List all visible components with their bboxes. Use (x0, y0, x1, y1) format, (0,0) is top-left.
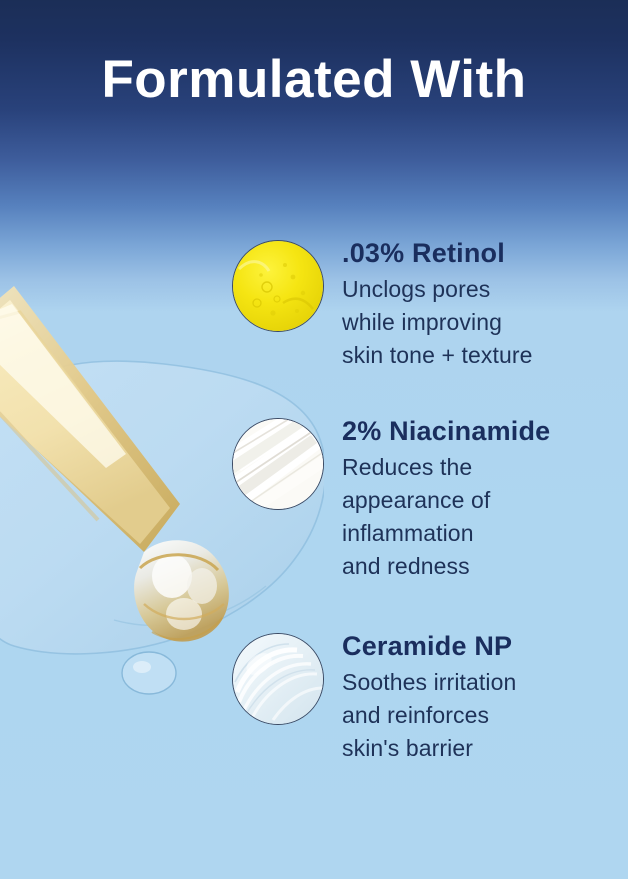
ingredient-name: .03% Retinol (342, 236, 622, 270)
description-line: skin's barrier (342, 732, 622, 765)
ingredient-text-retinol: .03% Retinol Unclogs pores while improvi… (342, 236, 622, 372)
ingredient-description: Soothes irritation and reinforces skin's… (342, 666, 622, 765)
description-line: while improving (342, 306, 622, 339)
niacinamide-cream-swatch (232, 418, 324, 510)
description-line: Unclogs pores (342, 273, 622, 306)
ingredient-name: Ceramide NP (342, 629, 622, 663)
retinol-gel-swatch (232, 240, 324, 332)
ingredient-name: 2% Niacinamide (342, 414, 622, 448)
description-line: and redness (342, 550, 622, 583)
description-line: skin tone + texture (342, 339, 622, 372)
description-line: inflammation (342, 517, 622, 550)
ingredient-description: Reduces the appearance of inflammation a… (342, 451, 622, 583)
description-line: and reinforces (342, 699, 622, 732)
description-line: Reduces the (342, 451, 622, 484)
ingredient-description: Unclogs pores while improving skin tone … (342, 273, 622, 372)
ingredient-text-niacinamide: 2% Niacinamide Reduces the appearance of… (342, 414, 622, 583)
formulated-with-panel: Formulated With (0, 0, 628, 879)
description-line: appearance of (342, 484, 622, 517)
ingredient-list: .03% Retinol Unclogs pores while improvi… (0, 0, 628, 879)
ceramide-gel-swatch (232, 633, 324, 725)
description-line: Soothes irritation (342, 666, 622, 699)
ingredient-text-ceramide: Ceramide NP Soothes irritation and reinf… (342, 629, 622, 765)
